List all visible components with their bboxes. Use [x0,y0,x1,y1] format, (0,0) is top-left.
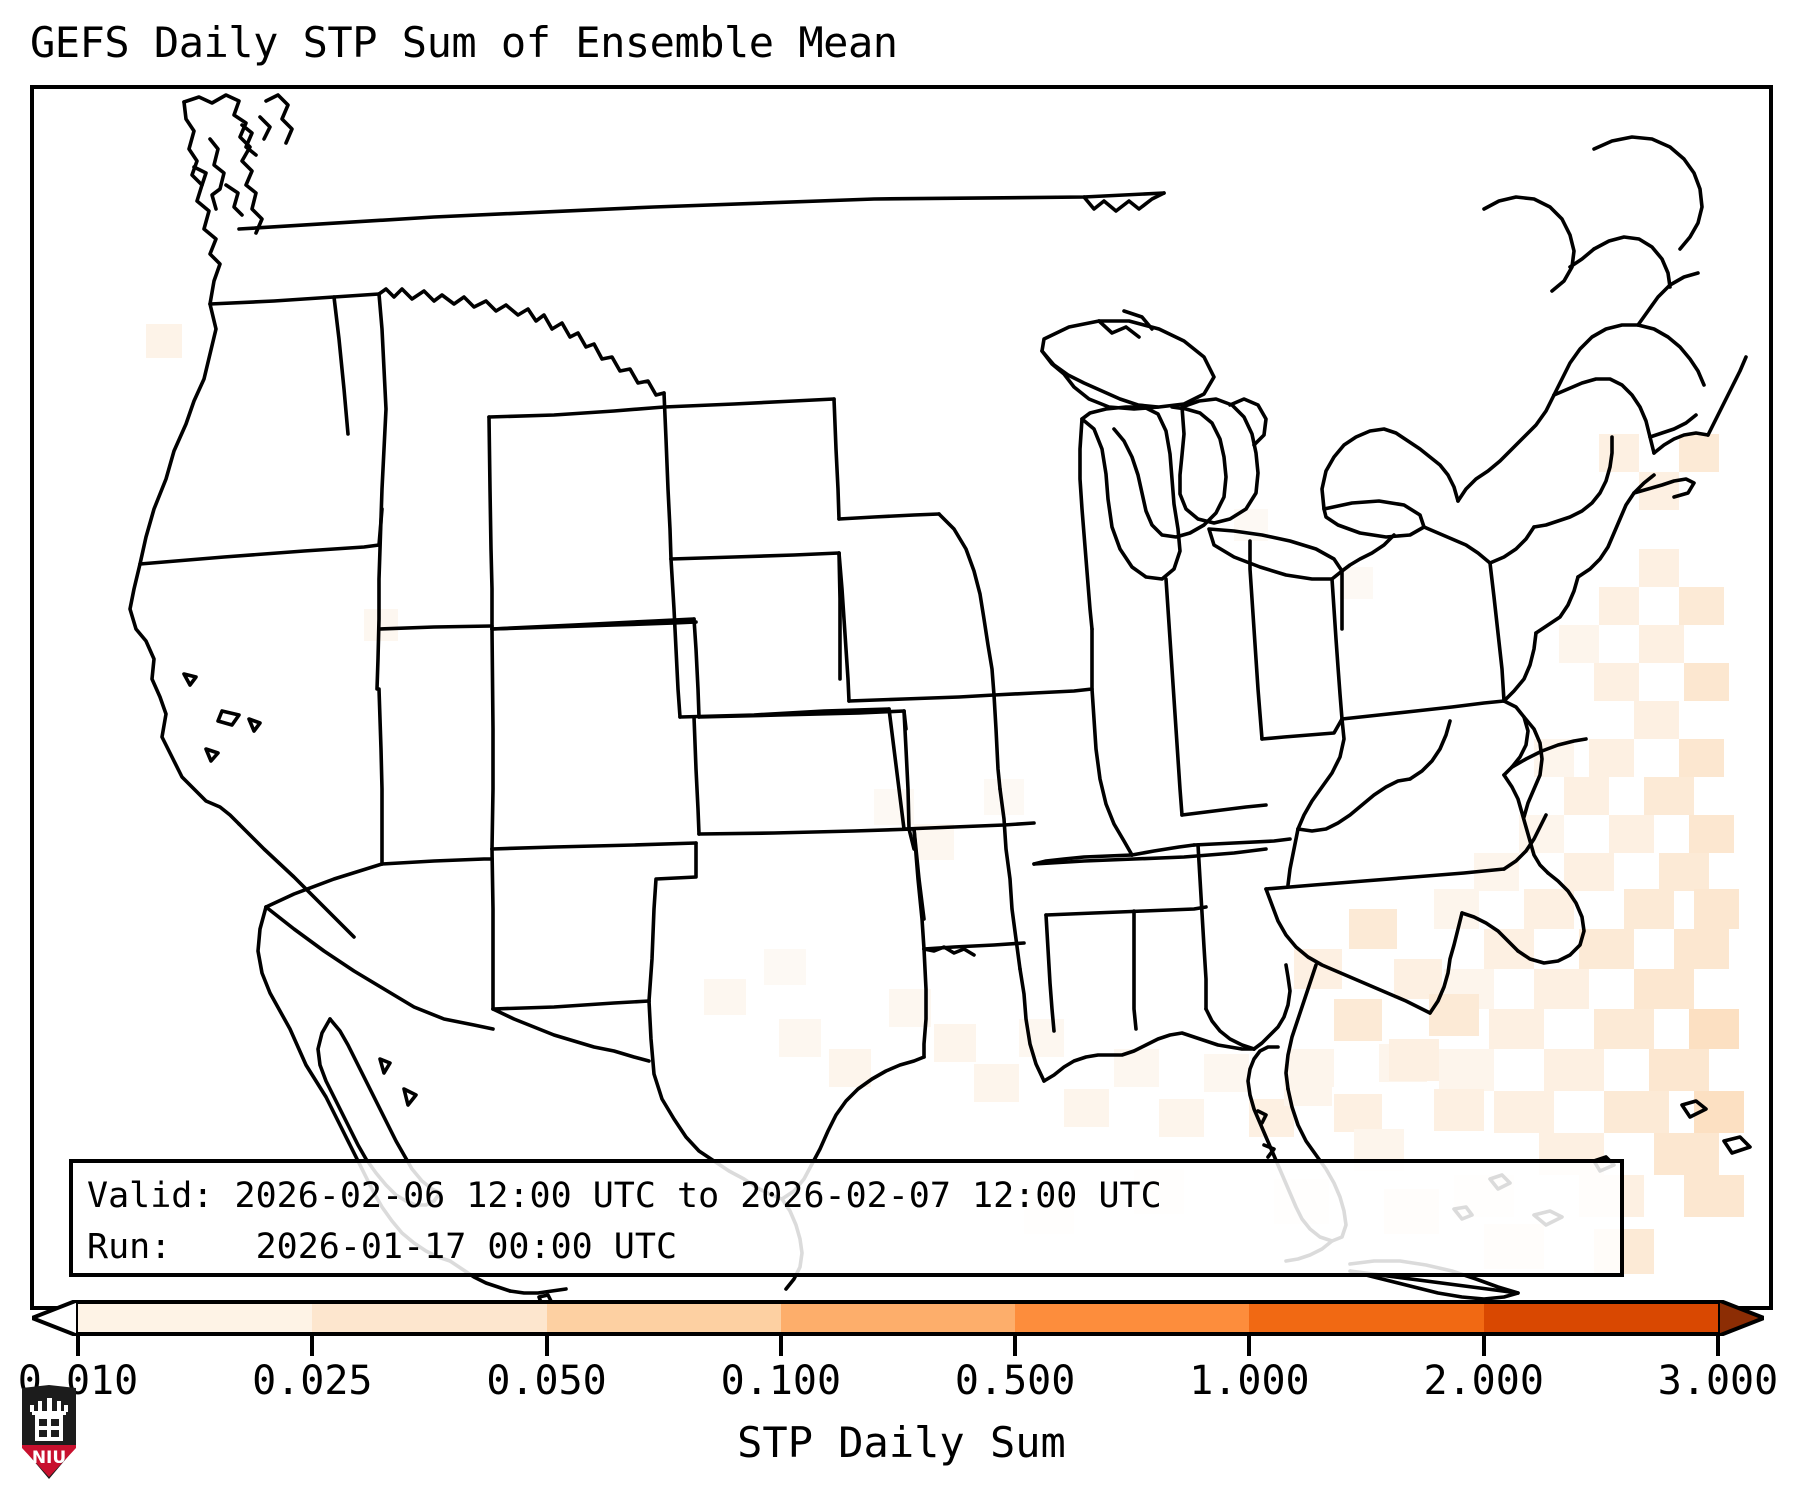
colorbar-tick-label-3: 0.100 [721,1358,841,1404]
colorbar-segment-0 [78,1304,312,1332]
colorbar-segment-5 [1249,1304,1483,1332]
colorbar-tick-label-5: 1.000 [1189,1358,1309,1404]
colorbar-bar-wrap [78,1300,1718,1336]
colorbar-tick-label-2: 0.050 [486,1358,606,1404]
colorbar-tick-7 [1716,1336,1720,1356]
colorbar-ticks [78,1336,1718,1356]
colorbar-extend-low-icon [32,1300,78,1336]
colorbar-tick-label-7: 3.000 [1658,1358,1778,1404]
page-title: GEFS Daily STP Sum of Ensemble Mean [30,18,898,67]
colorbar-extend-high-icon [1718,1300,1764,1336]
colorbar: 0.0100.0250.0500.1000.5001.0002.0003.000… [0,1300,1803,1500]
colorbar-segment-1 [312,1304,546,1332]
map-canvas [34,89,1769,1306]
niu-logo: NIU [18,1385,80,1481]
colorbar-segment-2 [547,1304,781,1332]
colorbar-tick-0 [76,1336,80,1356]
niu-logo-text: NIU [32,1448,66,1468]
colorbar-tick-2 [545,1336,549,1356]
colorbar-axis-label: STP Daily Sum [0,1418,1803,1467]
colorbar-gradient [78,1300,1718,1336]
colorbar-tick-6 [1482,1336,1486,1356]
colorbar-segment-3 [781,1304,1015,1332]
colorbar-tick-labels: 0.0100.0250.0500.1000.5001.0002.0003.000 [0,1358,1803,1408]
info-box: Valid: 2026-02-06 12:00 UTC to 2026-02-0… [69,1159,1624,1277]
valid-time-text: Valid: 2026-02-06 12:00 UTC to 2026-02-0… [87,1171,1606,1222]
colorbar-tick-label-6: 2.000 [1423,1358,1543,1404]
colorbar-tick-5 [1247,1336,1251,1356]
colorbar-tick-4 [1013,1336,1017,1356]
colorbar-tick-label-4: 0.500 [955,1358,1075,1404]
stp-shading-layer [146,324,1744,1274]
run-time-text: Run: 2026-01-17 00:00 UTC [87,1222,1606,1273]
colorbar-tick-1 [310,1336,314,1356]
colorbar-segment-6 [1484,1304,1718,1332]
colorbar-segment-4 [1015,1304,1249,1332]
colorbar-tick-3 [779,1336,783,1356]
colorbar-tick-label-1: 0.025 [252,1358,372,1404]
map-frame: Valid: 2026-02-06 12:00 UTC to 2026-02-0… [30,85,1773,1310]
